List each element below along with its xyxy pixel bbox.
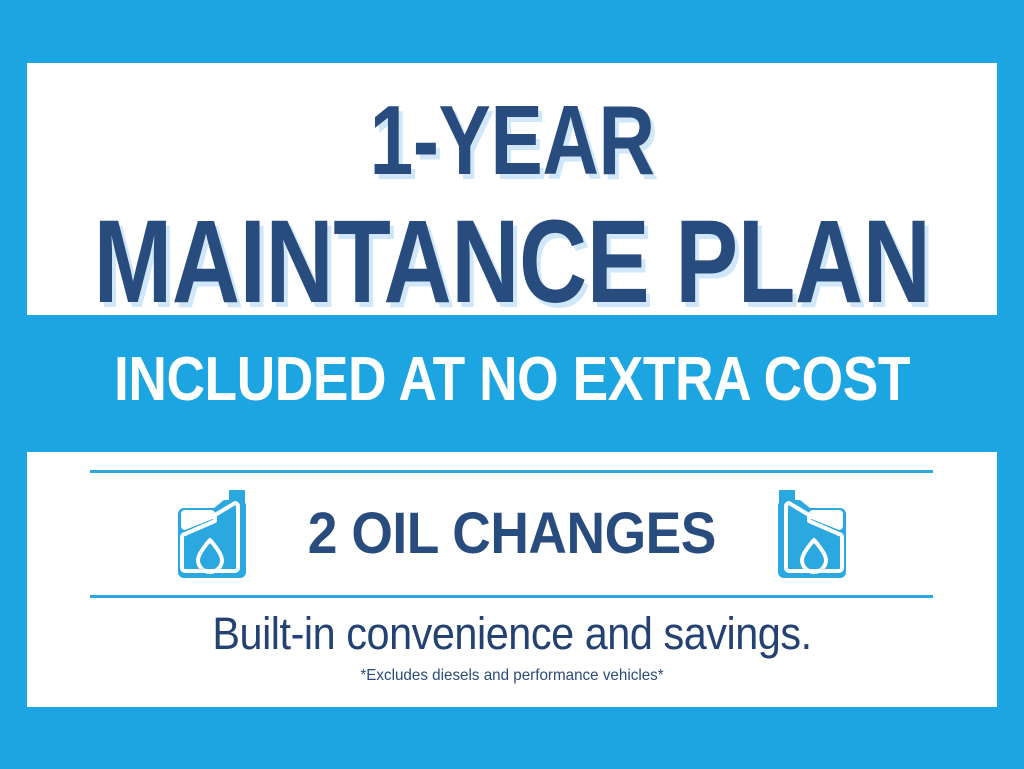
promo-poster: 1-YEAR MAINTANCE PLAN INCLUDED AT NO EXT… [0, 0, 1024, 769]
divider-rule-top [90, 470, 933, 473]
oil-jug-icon-right [776, 488, 852, 580]
headline-line-1: 1-YEAR [369, 91, 654, 189]
offer-panel: 2 OIL CHANGES Built-in convenience and s… [27, 452, 997, 707]
offer-row: 2 OIL CHANGES [27, 480, 997, 588]
oil-jug-icon-left [172, 488, 248, 580]
headline-line-2: MAINTANCE PLAN [94, 203, 931, 321]
fineprint-disclaimer: *Excludes diesels and performance vehicl… [51, 667, 973, 685]
subheading: INCLUDED AT NO EXTRA COST [95, 340, 929, 420]
divider-rule-bottom [90, 595, 933, 598]
offer-label: 2 OIL CHANGES [308, 505, 716, 563]
headline-panel: 1-YEAR MAINTANCE PLAN [27, 63, 997, 315]
tagline: Built-in convenience and savings. [66, 608, 958, 660]
